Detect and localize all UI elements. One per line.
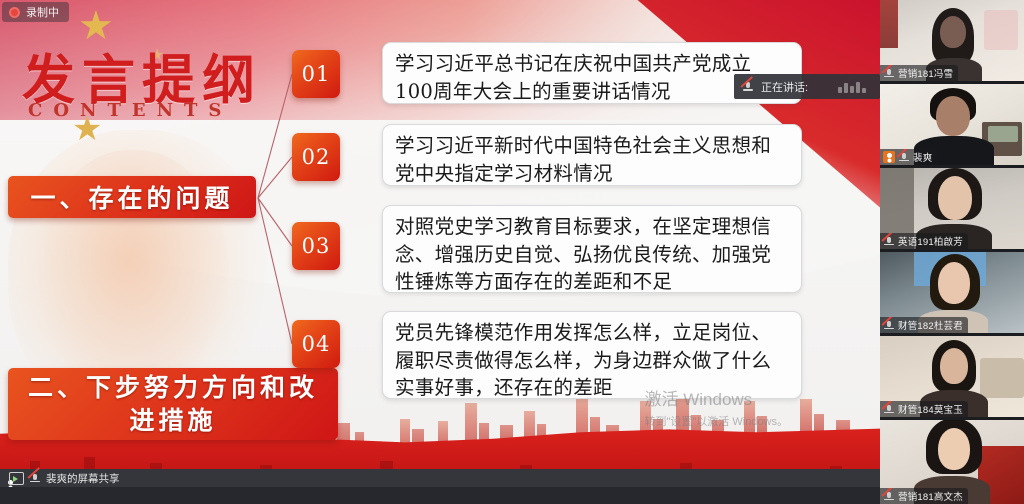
record-dot-icon — [9, 7, 20, 18]
recording-indicator[interactable]: 录制中 — [2, 2, 69, 22]
participant-name-3: 财管182杜芸君 — [898, 318, 963, 332]
participant-name-5: 营销181高文杰 — [898, 489, 963, 503]
mic-muted-icon — [883, 403, 895, 415]
participant-tile-3[interactable]: 财管182杜芸君 — [880, 252, 1024, 333]
screen-share-icon — [9, 472, 24, 485]
participant-tile-2[interactable]: 英语191柏啟芳 — [880, 168, 1024, 249]
mic-muted-icon — [742, 81, 754, 93]
participant-name-row-1: 裴爽 — [880, 149, 937, 165]
watermark-line-2: 转到"设置"以激活 Windows。 — [645, 413, 789, 429]
mic-muted-icon — [883, 319, 895, 331]
participant-name-row-5: 营销181高文杰 — [880, 488, 968, 504]
content-card-3: 对照党史学习教育目标要求，在坚定理想信念、增强历史自觉、弘扬优良传统、加强党性锤… — [382, 205, 802, 293]
mic-muted-icon — [898, 151, 910, 163]
number-badge-01: 01 — [292, 50, 340, 98]
mic-muted-icon — [883, 67, 895, 79]
participant-name-row-2: 英语191柏啟芳 — [880, 233, 968, 249]
active-speaker-label: 正在讲话: — [761, 79, 808, 95]
zoom-meeting-window: ★ ★ ★ — [0, 0, 1024, 504]
participant-rail[interactable]: 营销181冯雪 裴爽 — [880, 0, 1024, 504]
mic-muted-icon — [883, 235, 895, 247]
screen-share-label: 裴爽的屏幕共享 — [46, 471, 120, 486]
content-card-2: 学习习近平新时代中国特色社会主义思想和党中央指定学习材料情况 — [382, 124, 802, 186]
participant-name-0: 营销181冯雪 — [898, 66, 953, 80]
participant-name-row-0: 营销181冯雪 — [880, 65, 958, 81]
recording-label: 录制中 — [26, 4, 59, 20]
active-speaker-banner: 正在讲话: — [734, 74, 880, 99]
section-button-2[interactable]: 二、下步努力方向和改进措施 — [8, 368, 338, 440]
mic-muted-icon — [29, 472, 41, 484]
windows-activation-watermark: 激活 Windows 转到"设置"以激活 Windows。 — [645, 385, 789, 429]
participant-name-row-4: 财管184莫宝玉 — [880, 401, 968, 417]
slide-subtitle: CONTENTS — [28, 100, 232, 121]
host-badge-icon — [883, 151, 895, 163]
participant-tile-4[interactable]: 财管184莫宝玉 — [880, 336, 1024, 417]
participant-name-1: 裴爽 — [913, 150, 932, 164]
mic-muted-icon — [883, 490, 895, 502]
participant-name-2: 英语191柏啟芳 — [898, 234, 963, 248]
participant-name-4: 财管184莫宝玉 — [898, 402, 963, 416]
participant-tile-0[interactable]: 营销181冯雪 — [880, 0, 1024, 81]
watermark-line-1: 激活 Windows — [645, 385, 789, 410]
participant-tile-1[interactable]: 裴爽 — [880, 84, 1024, 165]
number-badge-03: 03 — [292, 222, 340, 270]
number-badge-04: 04 — [292, 320, 340, 368]
number-badge-02: 02 — [292, 133, 340, 181]
participant-name-row-3: 财管182杜芸君 — [880, 317, 968, 333]
audio-wave-icon — [838, 82, 866, 93]
screen-share-bar: 裴爽的屏幕共享 — [0, 469, 880, 487]
participant-tile-5[interactable]: 营销181高文杰 — [880, 420, 1024, 504]
section-button-1[interactable]: 一、存在的问题 — [8, 176, 256, 218]
